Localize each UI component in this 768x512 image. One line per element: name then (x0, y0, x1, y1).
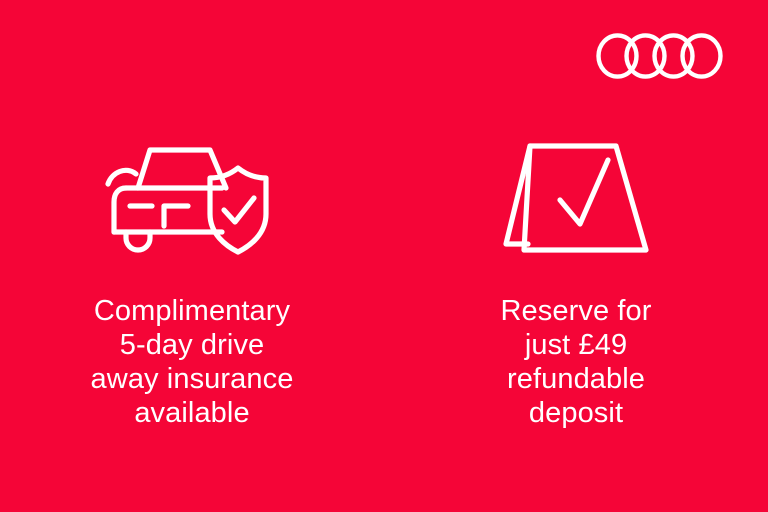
promo-banner: Complimentary 5-day drive away insurance… (0, 0, 768, 512)
folded-card-checkmark-icon (498, 136, 654, 260)
feature-item-insurance: Complimentary 5-day drive away insurance… (0, 0, 384, 512)
feature-list: Complimentary 5-day drive away insurance… (0, 0, 768, 512)
feature-caption-deposit: Reserve for just £49 refundable deposit (384, 294, 768, 430)
feature-item-deposit: Reserve for just £49 refundable deposit (384, 0, 768, 512)
car-shield-insurance-icon (104, 136, 280, 260)
feature-caption-insurance: Complimentary 5-day drive away insurance… (0, 294, 384, 430)
